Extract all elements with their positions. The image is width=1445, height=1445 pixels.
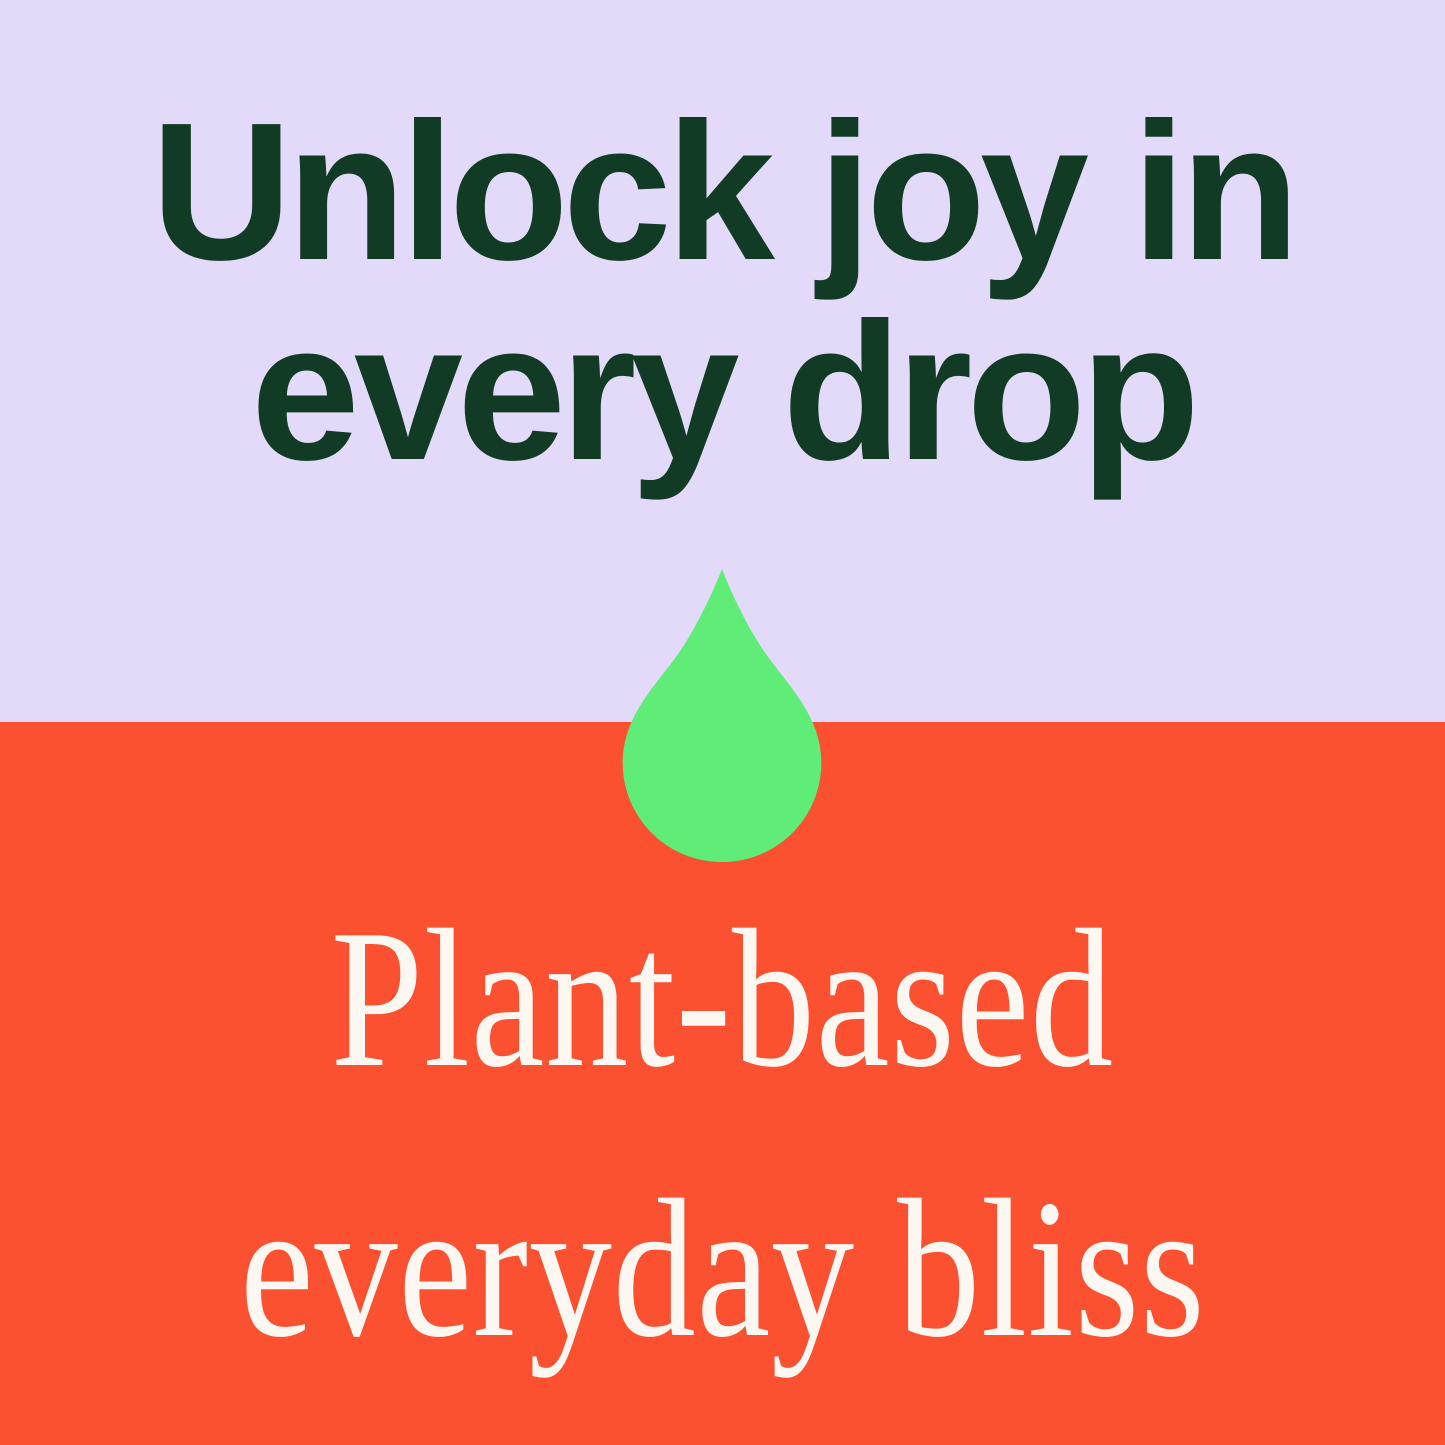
water-droplet-icon — [621, 569, 823, 862]
promo-poster: Unlock joy in every drop Plant-based eve… — [0, 0, 1445, 1445]
